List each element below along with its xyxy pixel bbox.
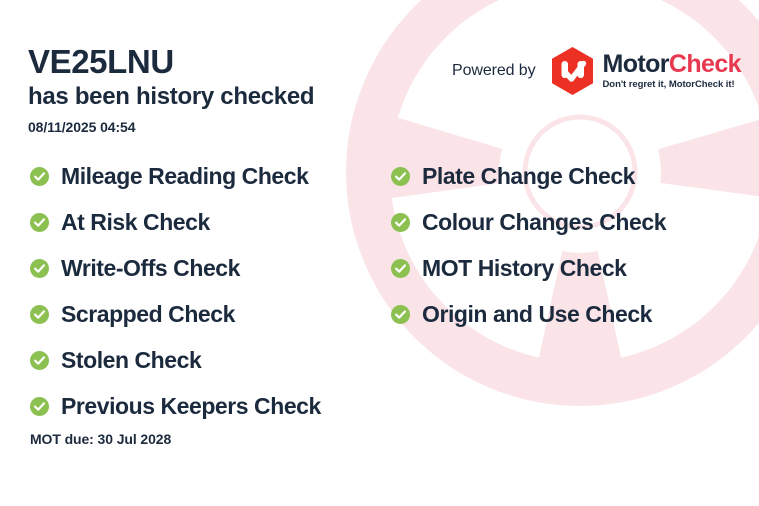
circle-check-icon <box>30 259 49 278</box>
check-label: At Risk Check <box>61 211 210 234</box>
wordmark-check: Check <box>669 50 741 78</box>
circle-check-icon <box>391 167 410 186</box>
check-label: Scrapped Check <box>61 303 235 326</box>
powered-by-label: Powered by <box>452 62 536 80</box>
check-item-mileage-reading: Mileage Reading Check <box>30 153 380 199</box>
circle-check-icon <box>30 351 49 370</box>
check-label: Plate Change Check <box>422 165 635 188</box>
vehicle-registration: VE25LNU <box>28 44 314 81</box>
checks-right-column: Plate Change Check Colour Changes Check … <box>391 153 751 337</box>
check-label: Origin and Use Check <box>422 303 652 326</box>
circle-check-icon <box>391 305 410 324</box>
check-label: Mileage Reading Check <box>61 165 308 188</box>
circle-check-icon <box>30 305 49 324</box>
check-item-colour-changes: Colour Changes Check <box>391 199 751 245</box>
check-item-plate-change: Plate Change Check <box>391 153 751 199</box>
circle-check-icon <box>391 213 410 232</box>
wordmark-motor: Motor <box>603 50 669 78</box>
motorcheck-hexagon-icon <box>550 46 595 96</box>
check-item-at-risk: At Risk Check <box>30 199 380 245</box>
mot-due-text: MOT due: 30 Jul 2028 <box>30 431 171 447</box>
circle-check-icon <box>30 213 49 232</box>
check-item-scrapped: Scrapped Check <box>30 291 380 337</box>
check-item-previous-keepers: Previous Keepers Check <box>30 383 380 429</box>
check-timestamp: 08/11/2025 04:54 <box>28 119 314 135</box>
check-label: Colour Changes Check <box>422 211 666 234</box>
check-item-write-offs: Write-Offs Check <box>30 245 380 291</box>
history-check-banner: VE25LNU has been history checked 08/11/2… <box>0 0 759 506</box>
checks-left-column: Mileage Reading Check At Risk Check Writ… <box>30 153 380 429</box>
brand-tagline: Don't regret it, MotorCheck it! <box>603 80 741 90</box>
check-item-stolen: Stolen Check <box>30 337 380 383</box>
check-item-origin-and-use: Origin and Use Check <box>391 291 751 337</box>
check-label: Stolen Check <box>61 349 201 372</box>
check-label: Write-Offs Check <box>61 257 240 280</box>
powered-by-block: Powered by MotorCheck Don't regret it, M… <box>452 46 741 96</box>
circle-check-icon <box>30 397 49 416</box>
check-label: MOT History Check <box>422 257 627 280</box>
check-label: Previous Keepers Check <box>61 395 321 418</box>
header-block: VE25LNU has been history checked 08/11/2… <box>28 44 314 135</box>
motorcheck-wordmark: MotorCheck Don't regret it, MotorCheck i… <box>603 52 741 90</box>
page-title: has been history checked <box>28 83 314 112</box>
circle-check-icon <box>391 259 410 278</box>
circle-check-icon <box>30 167 49 186</box>
check-item-mot-history: MOT History Check <box>391 245 751 291</box>
